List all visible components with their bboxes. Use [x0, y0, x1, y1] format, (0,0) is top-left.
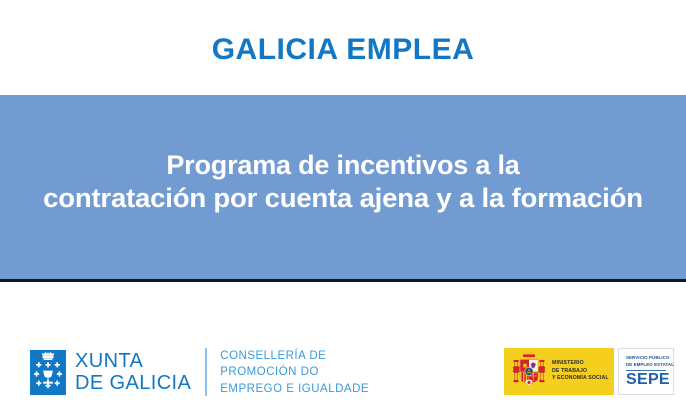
conselleria-line-3: EMPREGO E IGUALDADE — [220, 381, 369, 397]
banner-headline-line-2: contratación por cuenta ajena y a la for… — [43, 182, 643, 215]
footer-logo-strip: XUNTA DE GALICIA CONSELLERÍA DE PROMOCIÓ… — [0, 285, 686, 410]
xunta-wordmark: XUNTA DE GALICIA — [75, 350, 191, 395]
sepe-tagline-line-1: SERVICIO PÚBLICO — [626, 355, 666, 361]
conselleria-text: CONSELLERÍA DE PROMOCIÓN DO EMPREGO E IG… — [220, 348, 369, 397]
conselleria-line-2: PROMOCIÓN DO — [220, 364, 369, 380]
xunta-wordmark-line-1: XUNTA — [75, 350, 191, 372]
spain-coat-of-arms-icon — [512, 349, 546, 394]
sepe-logo: SERVICIO PÚBLICO DE EMPLEO ESTATAL SEPE — [618, 348, 674, 395]
ministerio-line-3: Y ECONOMÍA SOCIAL — [552, 375, 609, 383]
ministerio-line-1: MINISTERIO — [552, 360, 609, 368]
xunta-de-galicia-logo: XUNTA DE GALICIA CONSELLERÍA DE PROMOCIÓ… — [30, 348, 369, 397]
banner-headline-line-1: Programa de incentivos a la — [166, 149, 519, 182]
ministerio-de-trabajo-logo: MINISTERIO DE TRABAJO Y ECONOMÍA SOCIAL — [504, 348, 614, 395]
program-banner: Programa de incentivos a la contratación… — [0, 95, 686, 282]
sepe-acronym: SEPE — [626, 372, 666, 388]
page-title: GALICIA EMPLEA — [212, 35, 475, 65]
ministerio-text: MINISTERIO DE TRABAJO Y ECONOMÍA SOCIAL — [552, 360, 609, 383]
sepe-tagline-line-2: DE EMPLEO ESTATAL — [626, 362, 666, 368]
logo-divider — [205, 348, 207, 396]
conselleria-line-1: CONSELLERÍA DE — [220, 348, 369, 364]
sepe-tagline: SERVICIO PÚBLICO DE EMPLEO ESTATAL — [626, 355, 666, 368]
page-header: GALICIA EMPLEA — [0, 0, 686, 95]
xunta-wordmark-line-2: DE GALICIA — [75, 372, 191, 394]
galicia-coat-of-arms-chalice-icon — [30, 350, 66, 395]
